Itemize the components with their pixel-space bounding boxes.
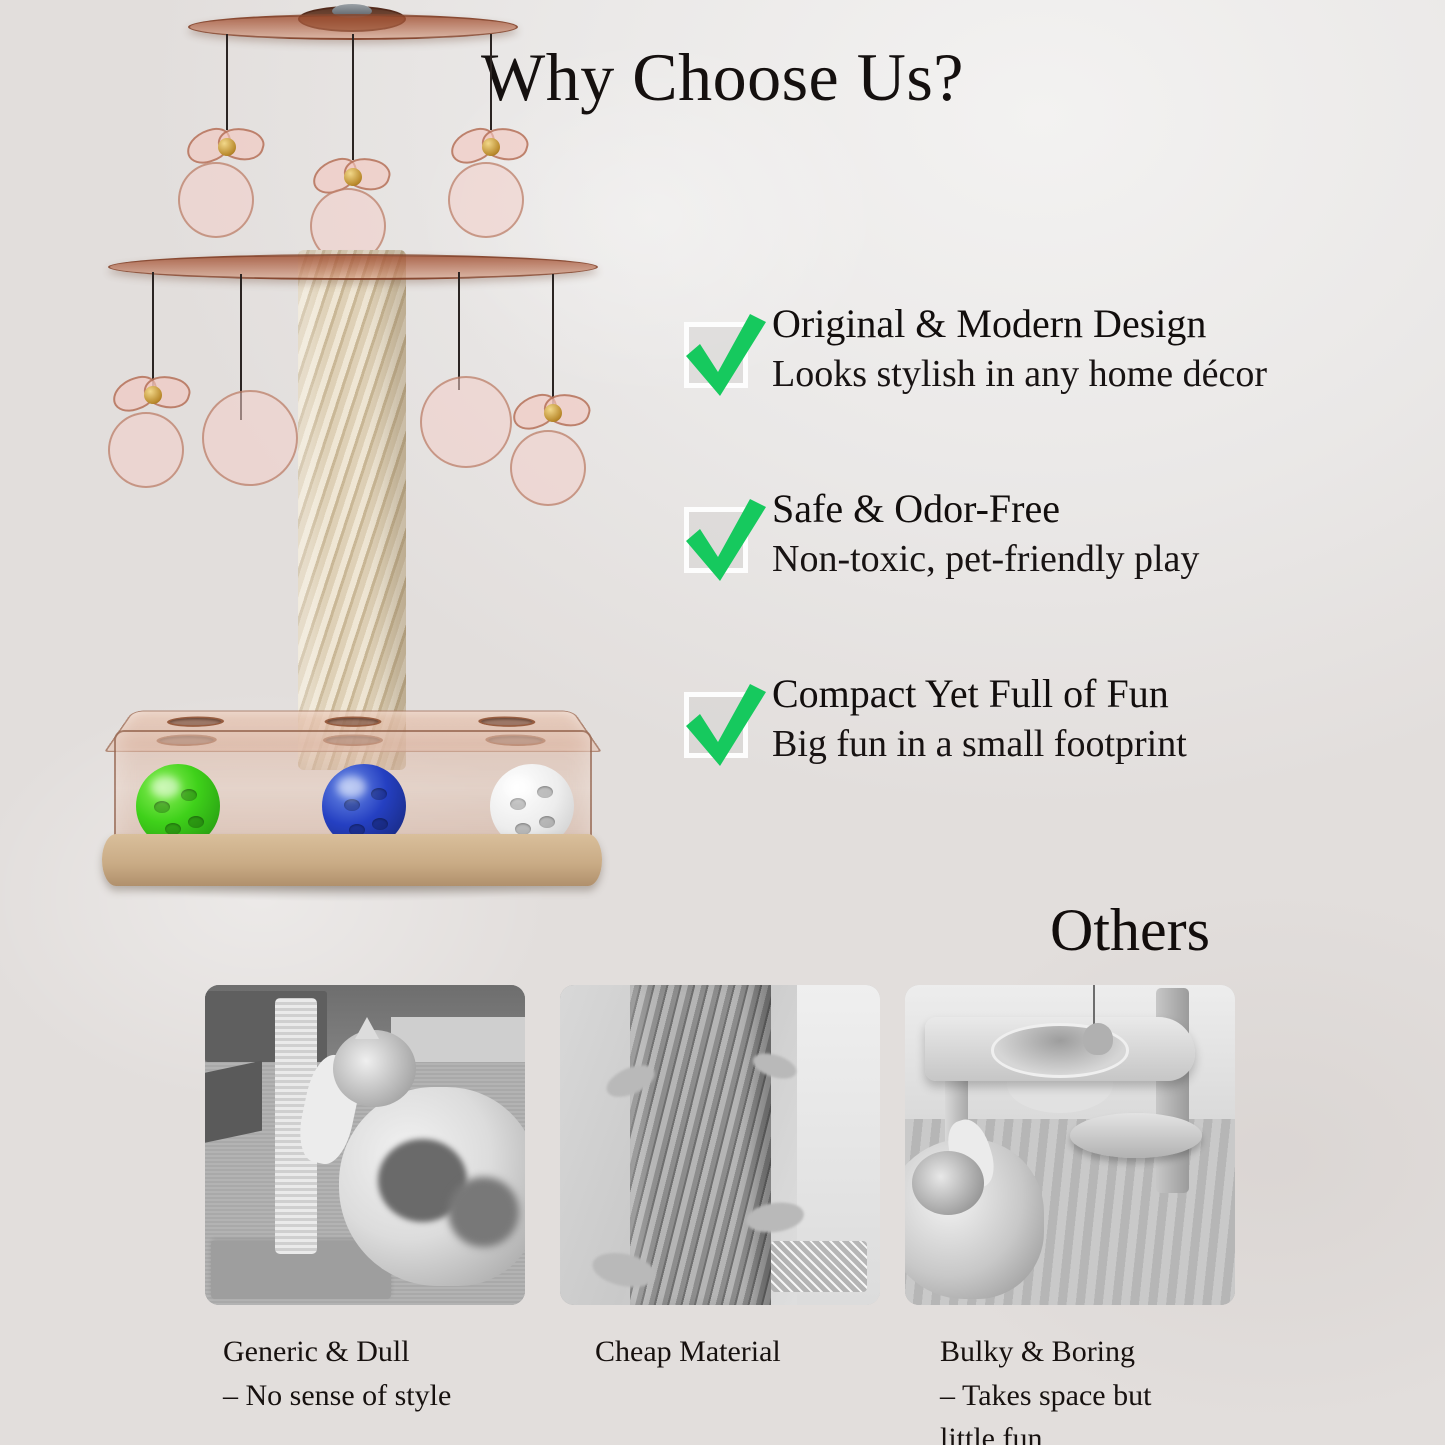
others-heading: Others: [930, 900, 1330, 960]
caption-line-2: – Takes space but: [940, 1374, 1240, 1418]
frayed-jute-rope-closeup-photo: [560, 985, 880, 1305]
checkbox-wrapper: [676, 310, 772, 402]
bell-icon: [144, 386, 162, 404]
benefit-subtext: Non-toxic, pet-friendly play: [772, 536, 1199, 584]
flower-disc-toy: [448, 162, 524, 238]
cat-scratching-plain-post-photo: [205, 985, 525, 1305]
benefit-headline: Original & Modern Design: [772, 300, 1267, 347]
sisal-rope-column: [298, 250, 406, 770]
benefit-headline: Safe & Odor-Free: [772, 485, 1199, 532]
caption-line-1: Cheap Material: [595, 1335, 781, 1368]
benefit-item: Safe & Odor-Free Non-toxic, pet-friendly…: [676, 485, 1436, 595]
benefit-subtext: Looks stylish in any home décor: [772, 351, 1267, 399]
competitor-caption: Bulky & Boring – Takes space but little …: [940, 1330, 1240, 1445]
competitor-caption: Cheap Material: [595, 1330, 925, 1374]
bell-icon: [344, 168, 362, 186]
wooden-base-plate: [102, 834, 602, 886]
bell-icon: [544, 404, 562, 422]
benefit-text: Safe & Odor-Free Non-toxic, pet-friendly…: [772, 485, 1199, 584]
toy-cord: [552, 274, 554, 408]
bell-icon: [218, 138, 236, 156]
ball-hole: [164, 716, 226, 726]
toy-cord: [226, 34, 228, 130]
caption-line-1: Bulky & Boring: [940, 1335, 1135, 1368]
caption-line-3: little fun: [940, 1417, 1240, 1445]
competitor-photo-cheap-material: [560, 985, 880, 1305]
toy-cord: [352, 34, 354, 160]
bulky-wooden-cat-tree-photo: [905, 985, 1235, 1305]
benefit-subtext: Big fun in a small footprint: [772, 721, 1187, 769]
checkbox-wrapper: [676, 680, 772, 772]
flower-disc-toy: [178, 162, 254, 238]
competitor-photo-bulky-boring: [905, 985, 1235, 1305]
toy-cord: [152, 272, 154, 390]
round-disc-toy: [420, 376, 512, 468]
infographic-canvas: Why Choose Us?: [0, 0, 1445, 1445]
ball-hole: [476, 716, 538, 726]
competitor-gallery: Generic & Dull – No sense of style Cheap…: [205, 985, 1240, 1305]
green-check-icon: [676, 310, 772, 402]
green-check-icon: [676, 680, 772, 772]
green-check-icon: [676, 495, 772, 587]
benefit-text: Original & Modern Design Looks stylish i…: [772, 300, 1267, 399]
caption-line-2: – No sense of style: [223, 1374, 553, 1418]
checkbox-wrapper: [676, 495, 772, 587]
benefit-headline: Compact Yet Full of Fun: [772, 670, 1187, 717]
middle-tier-platter: [108, 254, 598, 280]
round-disc-toy: [202, 390, 298, 486]
round-disc-toy: [108, 412, 184, 488]
ball-hole: [324, 716, 382, 726]
competitor-thumbnail-row: Generic & Dull – No sense of style Cheap…: [205, 985, 1240, 1305]
benefits-list: Original & Modern Design Looks stylish i…: [676, 300, 1436, 780]
hero-product-photo: [60, 160, 660, 920]
competitor-caption: Generic & Dull – No sense of style: [223, 1330, 553, 1417]
competitor-photo-generic-dull: [205, 985, 525, 1305]
toy-cord: [490, 34, 492, 130]
benefit-text: Compact Yet Full of Fun Big fun in a sma…: [772, 670, 1187, 769]
caption-line-1: Generic & Dull: [223, 1335, 410, 1368]
bell-icon: [482, 138, 500, 156]
toy-cord: [458, 272, 460, 390]
round-disc-toy: [510, 430, 586, 506]
benefit-item: Compact Yet Full of Fun Big fun in a sma…: [676, 670, 1436, 780]
benefit-item: Original & Modern Design Looks stylish i…: [676, 300, 1436, 410]
page-title: Why Choose Us?: [0, 42, 1445, 113]
